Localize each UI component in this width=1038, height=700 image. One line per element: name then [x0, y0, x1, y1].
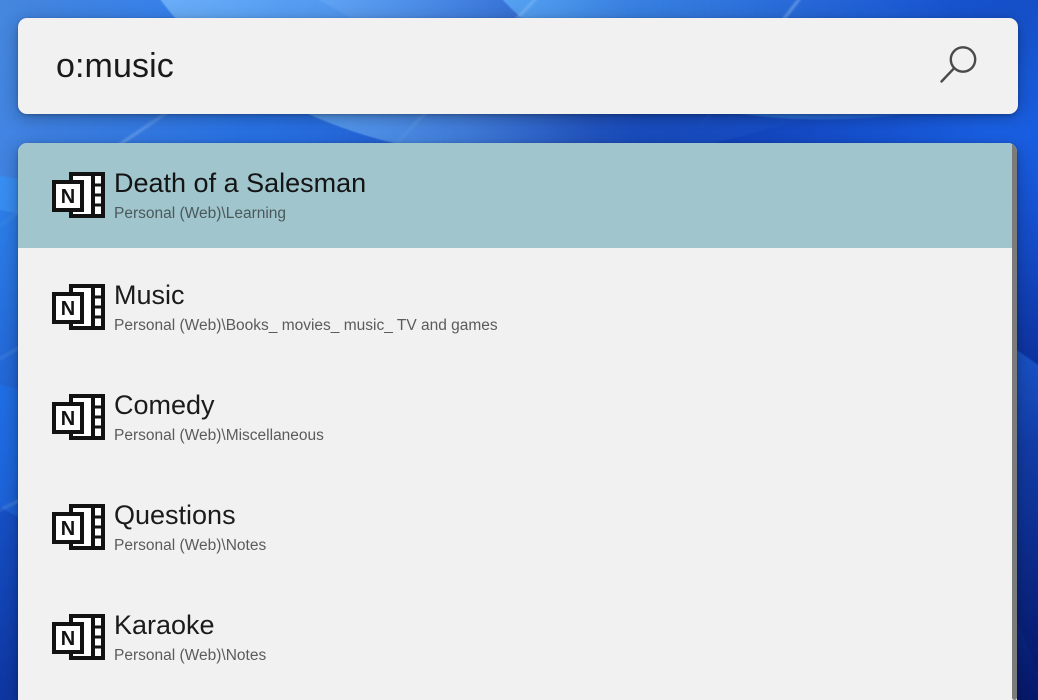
result-subtitle: Personal (Web)\Books_ movies_ music_ TV …: [114, 315, 498, 336]
svg-text:N: N: [61, 628, 75, 650]
search-button[interactable]: [926, 35, 988, 97]
list-separator: [18, 248, 1017, 257]
result-icon: N: [38, 283, 114, 333]
result-subtitle: Personal (Web)\Miscellaneous: [114, 425, 324, 446]
onenote-icon: N: [52, 393, 106, 443]
result-text: Death of a Salesman Personal (Web)\Learn…: [114, 167, 366, 224]
results-scrollbar[interactable]: [1012, 143, 1017, 700]
result-icon: N: [38, 393, 114, 443]
onenote-icon: N: [52, 613, 106, 663]
search-result-item[interactable]: N Comedy Personal (Web)\Miscellaneous: [18, 367, 1017, 468]
svg-text:N: N: [61, 298, 75, 320]
search-result-item[interactable]: N Death of a Salesman Personal (Web)\Lea…: [18, 143, 1017, 248]
search-bar[interactable]: o:music: [18, 18, 1018, 114]
result-title: Comedy: [114, 389, 324, 422]
svg-text:N: N: [61, 186, 75, 208]
results-scrollbar-thumb[interactable]: [1012, 143, 1017, 700]
result-title: Death of a Salesman: [114, 167, 366, 200]
result-subtitle: Personal (Web)\Learning: [114, 203, 366, 224]
list-separator: [18, 468, 1017, 477]
result-subtitle: Personal (Web)\Notes: [114, 535, 266, 556]
result-title: Questions: [114, 499, 266, 532]
onenote-icon: N: [52, 503, 106, 553]
result-text: Karaoke Personal (Web)\Notes: [114, 609, 266, 666]
search-result-item[interactable]: N Karaoke Personal (Web)\Notes: [18, 587, 1017, 688]
result-title: Music: [114, 279, 498, 312]
result-text: Music Personal (Web)\Books_ movies_ musi…: [114, 279, 498, 336]
list-separator: [18, 578, 1017, 587]
list-separator: [18, 358, 1017, 367]
search-results-list: N Death of a Salesman Personal (Web)\Lea…: [18, 143, 1017, 688]
result-title: Karaoke: [114, 609, 266, 642]
svg-text:N: N: [61, 518, 75, 540]
svg-text:N: N: [61, 408, 75, 430]
result-text: Comedy Personal (Web)\Miscellaneous: [114, 389, 324, 446]
search-result-item[interactable]: N Music Personal (Web)\Books_ movies_ mu…: [18, 257, 1017, 358]
desktop-screen: o:music N Dea: [0, 0, 1038, 700]
result-icon: N: [38, 613, 114, 663]
search-icon: [931, 40, 983, 92]
result-icon: N: [38, 171, 114, 221]
result-text: Questions Personal (Web)\Notes: [114, 499, 266, 556]
onenote-icon: N: [52, 283, 106, 333]
result-subtitle: Personal (Web)\Notes: [114, 645, 266, 666]
search-result-item[interactable]: N Questions Personal (Web)\Notes: [18, 477, 1017, 578]
search-input[interactable]: o:music: [56, 47, 926, 86]
search-results-panel[interactable]: N Death of a Salesman Personal (Web)\Lea…: [18, 143, 1017, 700]
result-icon: N: [38, 503, 114, 553]
onenote-icon: N: [52, 171, 106, 221]
